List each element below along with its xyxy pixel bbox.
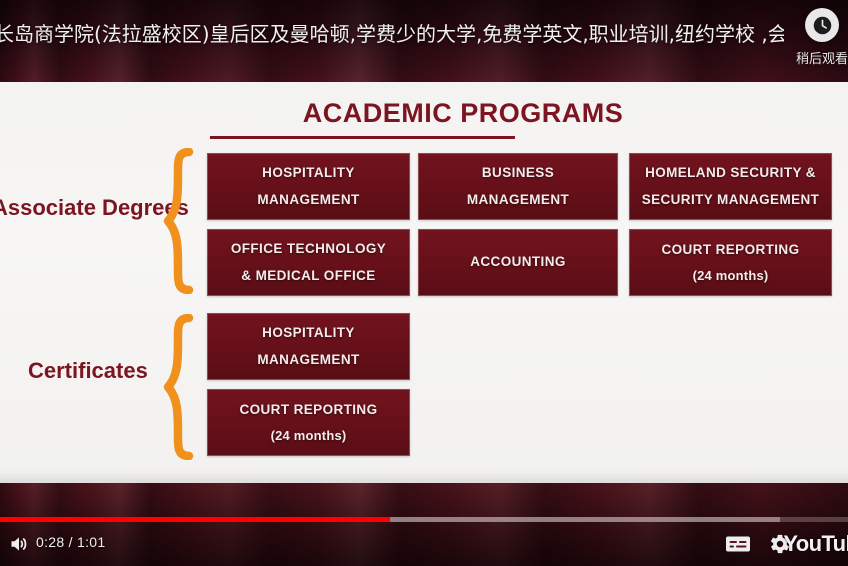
program-box-hospitality-management-associate: HOSPITALITY MANAGEMENT [207,153,410,220]
video-title[interactable]: 长岛商学院(法拉盛校区)皇后区及曼哈顿,学费少的大学,免费学英文,职业培训,纽约… [0,21,784,47]
program-line-2: MANAGEMENT [257,347,359,373]
program-line-1: OFFICE TECHNOLOGY [231,236,386,262]
time-display: 0:28 / 1:01 [36,534,105,550]
program-line-2: SECURITY MANAGEMENT [642,187,820,213]
program-box-office-technology: OFFICE TECHNOLOGY & MEDICAL OFFICE [207,229,410,296]
program-duration: (24 months) [271,423,347,448]
program-line-2: MANAGEMENT [467,187,569,213]
program-line-1: HOMELAND SECURITY & [645,160,816,186]
program-line-1: BUSINESS [482,160,554,186]
volume-icon [8,532,32,556]
youtube-video-player[interactable]: 长岛商学院(法拉盛校区)皇后区及曼哈顿,学费少的大学,免费学英文,职业培训,纽约… [0,0,848,566]
program-line-1: HOSPITALITY [262,320,355,346]
subtitles-cc-icon [725,534,751,554]
program-line-1: COURT REPORTING [239,397,377,423]
program-box-homeland-security: HOMELAND SECURITY & SECURITY MANAGEMENT [629,153,832,220]
program-line-2: & MEDICAL OFFICE [241,263,375,289]
category-label-associate-degrees: Associate Degrees [0,195,189,221]
program-line-1: HOSPITALITY [262,160,355,186]
watch-later-label: 稍后观看 [796,48,848,67]
program-duration: (24 months) [693,263,769,288]
program-line-1: COURT REPORTING [661,237,799,263]
program-box-business-management: BUSINESS MANAGEMENT [418,153,618,220]
program-line-1: ACCOUNTING [470,249,566,275]
youtube-logo[interactable]: YouTube [783,531,848,557]
watch-later-button[interactable]: 稍后观看 [780,8,848,67]
program-box-hospitality-management-certificate: HOSPITALITY MANAGEMENT [207,313,410,380]
presentation-slide: ACADEMIC PROGRAMS Associate Degrees Cert… [0,82,848,483]
program-line-2: MANAGEMENT [257,187,359,213]
program-box-court-reporting-certificate: COURT REPORTING (24 months) [207,389,410,456]
program-box-accounting: ACCOUNTING [418,229,618,296]
category-label-certificates: Certificates [28,358,148,384]
program-box-court-reporting-associate: COURT REPORTING (24 months) [629,229,832,296]
volume-button[interactable] [0,526,40,562]
player-controls: 0:28 / 1:01 YouTube [0,522,848,566]
page-title: ACADEMIC PROGRAMS [0,98,848,129]
curly-brace-icon [163,314,197,460]
title-underline [210,136,515,139]
clock-icon [805,8,839,42]
curly-brace-icon [163,148,197,294]
captions-button[interactable] [720,527,756,561]
